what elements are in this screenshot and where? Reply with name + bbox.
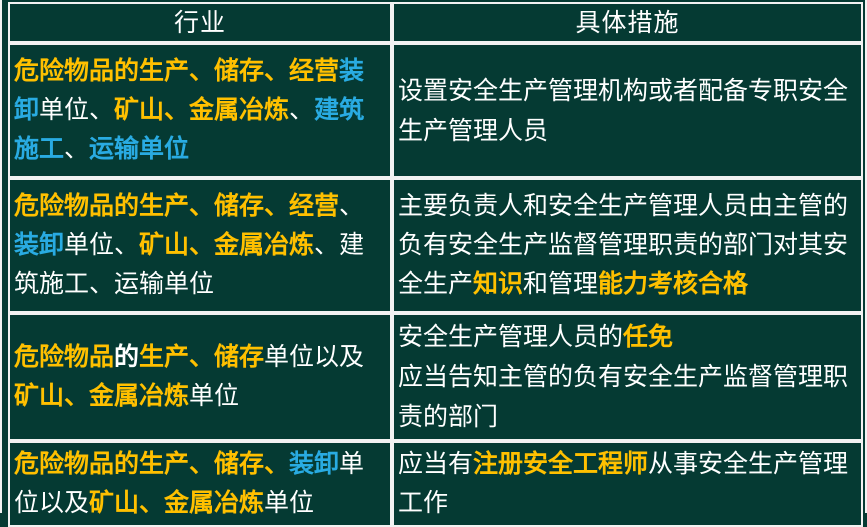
header-cell-measure: 具体措施 [392, 2, 863, 43]
industry-text-1: 危险物品的生产、储存、经营装卸单位、矿山、金属冶炼、建筑施工、运输单位 [14, 52, 386, 169]
text-run: 、 [64, 135, 89, 163]
text-run: 知识 [473, 270, 523, 298]
cell-measure-1: 设置安全生产管理机构或者配备专职安全生产管理人员 [392, 43, 863, 178]
table-body: 行业 具体措施 危险物品的生产、储存、经营装卸单位、矿山、金属冶炼、建筑施工、运… [8, 2, 863, 527]
text-run: 危险物品的生产、储存、经营 [14, 57, 339, 85]
text-run: 矿山、金属冶炼 [14, 382, 189, 410]
text-run: 单位 [189, 382, 239, 410]
cell-industry-2: 危险物品的生产、储存、经营、装卸单位、矿山、金属冶炼、建筑施工、运输单位 [8, 178, 392, 313]
text-run: 安全生产管理人员的 [398, 323, 623, 351]
measure-text-2: 主要负责人和安全生产管理人员由主管的负有安全生产监督管理职责的部门对其安全生产知… [398, 187, 857, 304]
text-run: 应当告知主管的负有安全生产监督管理职责的部门 [398, 363, 848, 431]
text-run: 和管理 [523, 270, 598, 298]
text-run: 装卸 [14, 231, 64, 259]
text-run: 单位、 [64, 231, 139, 259]
cell-measure-2: 主要负责人和安全生产管理人员由主管的负有安全生产监督管理职责的部门对其安全生产知… [392, 178, 863, 313]
industry-text-4: 危险物品的生产、储存、装卸单位以及矿山、金属冶炼单位 [14, 445, 386, 523]
table-header-row: 行业 具体措施 [8, 2, 863, 43]
text-run: 单位以及 [264, 343, 364, 371]
header-cell-industry: 行业 [8, 2, 392, 43]
text-run: 矿山、金属冶炼 [139, 231, 314, 259]
measure-text-4: 应当有注册安全工程师从事安全生产管理工作 [398, 445, 857, 523]
measure-text-1: 设置安全生产管理机构或者配备专职安全生产管理人员 [398, 71, 857, 151]
text-run: 应当有 [398, 450, 473, 478]
industry-measures-table: 行业 具体措施 危险物品的生产、储存、经营装卸单位、矿山、金属冶炼、建筑施工、运… [8, 2, 863, 527]
cell-industry-1: 危险物品的生产、储存、经营装卸单位、矿山、金属冶炼、建筑施工、运输单位 [8, 43, 392, 178]
slide-table-container: 行业 具体措施 危险物品的生产、储存、经营装卸单位、矿山、金属冶炼、建筑施工、运… [0, 0, 867, 513]
table-row: 危险物品的生产、储存、经营、装卸单位、矿山、金属冶炼、建筑施工、运输单位 主要负… [8, 178, 863, 313]
table-row: 危险物品的生产、储存、经营装卸单位、矿山、金属冶炼、建筑施工、运输单位 设置安全… [8, 43, 863, 178]
text-run: 设置安全生产管理机构或者配备专职安全生产管理人员 [398, 77, 848, 145]
industry-text-2: 危险物品的生产、储存、经营、装卸单位、矿山、金属冶炼、建筑施工、运输单位 [14, 187, 386, 304]
cell-industry-4: 危险物品的生产、储存、装卸单位以及矿山、金属冶炼单位 [8, 441, 392, 527]
text-run: 危险物品的生产、储存、 [14, 450, 289, 478]
text-run: 、 [289, 96, 314, 124]
header-label-industry: 行业 [174, 9, 226, 37]
text-run: 生产、储存 [139, 343, 264, 371]
text-run: 、 [314, 231, 339, 259]
industry-text-3: 危险物品的生产、储存单位以及矿山、金属冶炼单位 [14, 338, 386, 416]
cell-industry-3: 危险物品的生产、储存单位以及矿山、金属冶炼单位 [8, 313, 392, 441]
text-run: 运输单位 [89, 135, 189, 163]
text-run: 单位、 [39, 96, 114, 124]
text-run: 危险物品的生产、储存、经营 [14, 192, 339, 220]
text-run: 装卸 [289, 450, 339, 478]
text-run: 矿山、金属冶炼 [114, 96, 289, 124]
cell-measure-4: 应当有注册安全工程师从事安全生产管理工作 [392, 441, 863, 527]
header-label-measure: 具体措施 [575, 9, 679, 37]
table-row: 危险物品的生产、储存单位以及矿山、金属冶炼单位 安全生产管理人员的任免 应当告知… [8, 313, 863, 441]
text-run: 的 [114, 343, 139, 371]
cell-measure-3: 安全生产管理人员的任免 应当告知主管的负有安全生产监督管理职责的部门 [392, 313, 863, 441]
text-run: 注册安全工程师 [473, 450, 648, 478]
text-run: 、 [339, 192, 364, 220]
text-run: 危险物品 [14, 343, 114, 371]
table-row: 危险物品的生产、储存、装卸单位以及矿山、金属冶炼单位 应当有注册安全工程师从事安… [8, 441, 863, 527]
text-run: 能力考核合格 [598, 270, 748, 298]
measure-text-3: 安全生产管理人员的任免 应当告知主管的负有安全生产监督管理职责的部门 [398, 317, 857, 437]
text-run: 任免 [623, 323, 673, 351]
